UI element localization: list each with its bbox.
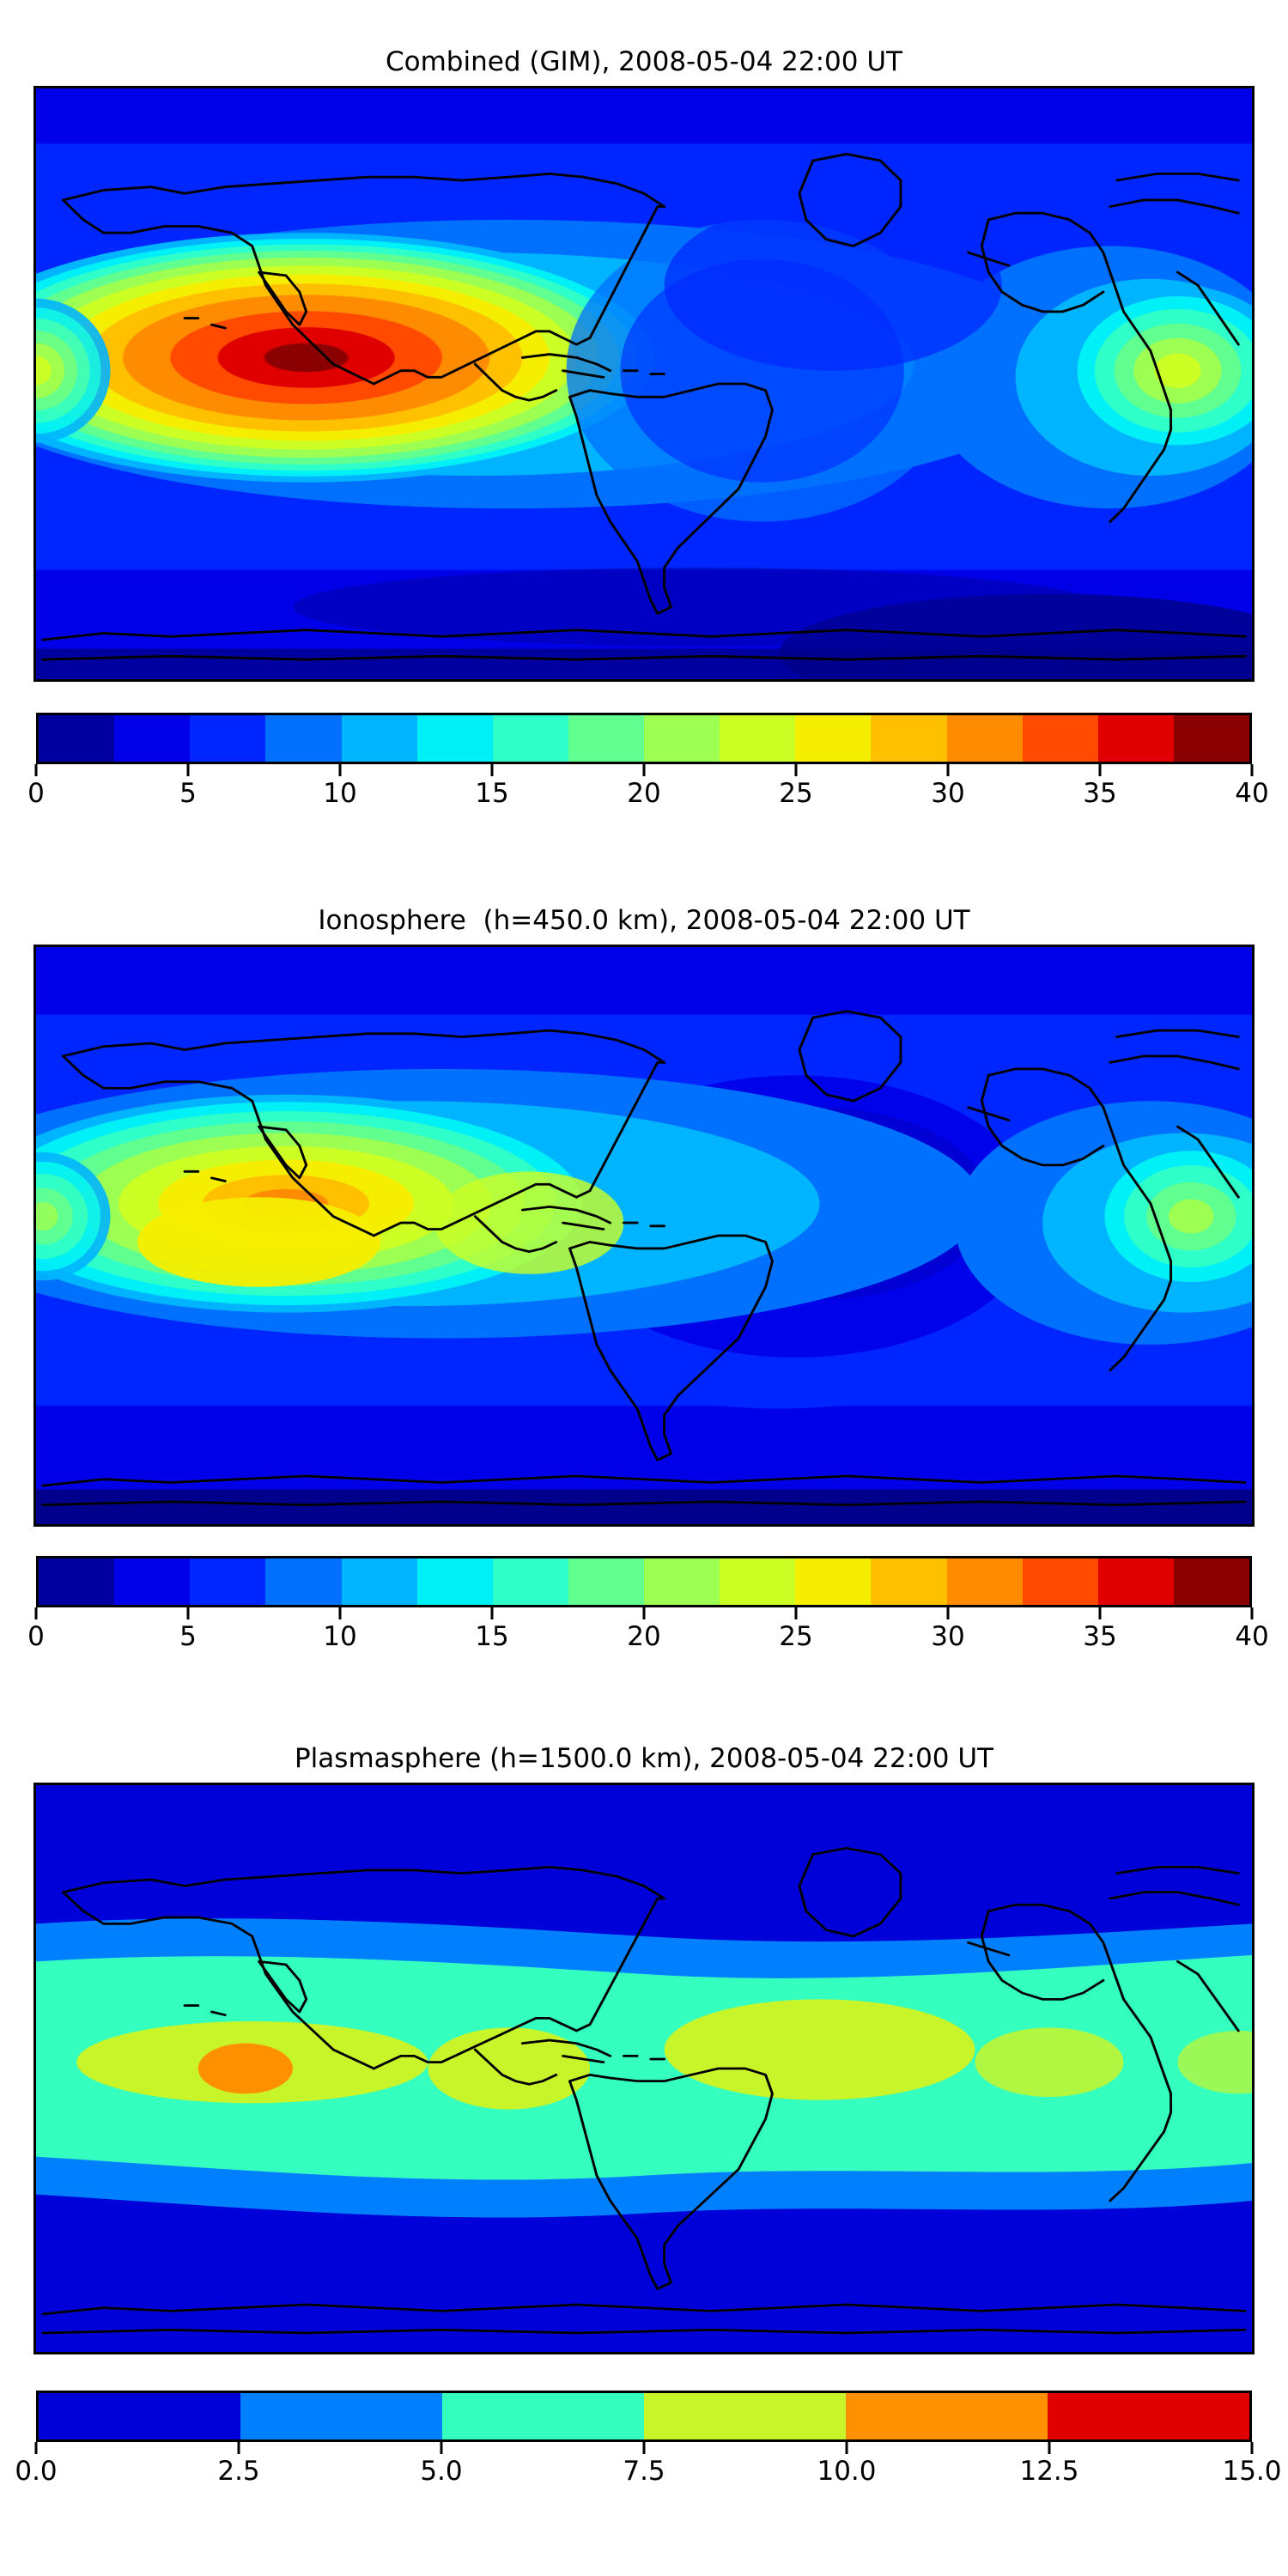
colorbar-band bbox=[720, 1558, 795, 1605]
colorbar-band bbox=[114, 715, 190, 762]
colorbar-band bbox=[1023, 1558, 1098, 1605]
colorbar-tick-label: 2.5 bbox=[217, 2456, 259, 2487]
panel-plasmasphere: Plasmasphere (h=1500.0 km), 2008-05-04 2… bbox=[0, 1741, 1288, 2494]
colorbar-band bbox=[644, 715, 720, 762]
colorbar-tick bbox=[35, 764, 38, 776]
colorbar-tick-label: 20 bbox=[627, 1621, 660, 1652]
colorbar-band bbox=[342, 715, 417, 762]
coastline-overlay-combined-gim bbox=[36, 88, 1252, 679]
colorbar-tick-label: 30 bbox=[931, 778, 964, 809]
colorbar-tick bbox=[643, 1607, 646, 1619]
map-inner-ionosphere bbox=[36, 947, 1252, 1524]
map-inner-plasmasphere bbox=[36, 1785, 1252, 2352]
colorbar-tick-label: 40 bbox=[1235, 778, 1268, 809]
colorbar-band bbox=[871, 1558, 946, 1605]
colorbar-tick-label: 15.0 bbox=[1222, 2456, 1281, 2487]
colorbar-plasmasphere: 0.0 2.5 5.0 7.5 10.0 12.5 15.0 bbox=[36, 2391, 1252, 2494]
panel-title-plasmasphere: Plasmasphere (h=1500.0 km), 2008-05-04 2… bbox=[0, 1741, 1288, 1776]
panel-title-combined-gim: Combined (GIM), 2008-05-04 22:00 UT bbox=[0, 45, 1288, 79]
colorbar-tick-label: 25 bbox=[779, 778, 812, 809]
colorbar-tick bbox=[1251, 2442, 1254, 2454]
colorbar-band bbox=[190, 1558, 265, 1605]
colorbar-tick bbox=[187, 764, 190, 776]
colorbar-tick-label: 5 bbox=[179, 1621, 197, 1652]
colorbar-band bbox=[644, 2393, 846, 2439]
panel-title-ionosphere: Ionosphere (h=450.0 km), 2008-05-04 22:0… bbox=[0, 903, 1288, 938]
map-inner-combined-gim bbox=[36, 88, 1252, 679]
colorbar-band bbox=[795, 1558, 871, 1605]
colorbar-tick bbox=[1048, 2442, 1050, 2454]
colorbar-band bbox=[114, 1558, 190, 1605]
colorbar-band bbox=[240, 2393, 442, 2439]
colorbar-tick-label: 10 bbox=[323, 1621, 356, 1652]
coastline-overlay-ionosphere bbox=[36, 947, 1252, 1524]
colorbar-band bbox=[644, 1558, 720, 1605]
colorbar-band bbox=[1098, 1558, 1174, 1605]
colorbar-gradient-combined-gim[interactable] bbox=[36, 713, 1252, 764]
colorbar-band bbox=[1023, 715, 1098, 762]
colorbar-tick-label: 35 bbox=[1083, 778, 1116, 809]
colorbar-tick-label: 0 bbox=[27, 1621, 45, 1652]
map-ionosphere[interactable] bbox=[33, 945, 1255, 1527]
colorbar-tick-label: 7.5 bbox=[623, 2456, 665, 2487]
colorbar-tick bbox=[187, 1607, 190, 1619]
colorbar-tick-label: 30 bbox=[931, 1621, 964, 1652]
colorbar-band bbox=[493, 715, 568, 762]
colorbar-band bbox=[417, 715, 493, 762]
panel-combined-gim: Combined (GIM), 2008-05-04 22:00 UT bbox=[0, 45, 1288, 816]
colorbar-band bbox=[795, 715, 871, 762]
colorbar-tick-label: 25 bbox=[779, 1621, 812, 1652]
colorbar-tick bbox=[947, 764, 950, 776]
colorbar-band bbox=[846, 2393, 1048, 2439]
colorbar-tick-label: 15 bbox=[475, 778, 508, 809]
colorbar-band bbox=[1174, 715, 1249, 762]
colorbar-tick-label: 5.0 bbox=[420, 2456, 462, 2487]
tec-map-figure: Combined (GIM), 2008-05-04 22:00 UT bbox=[0, 0, 1288, 2576]
colorbar-band bbox=[190, 715, 265, 762]
colorbar-tick bbox=[846, 2442, 848, 2454]
colorbar-band bbox=[265, 1558, 341, 1605]
map-combined-gim[interactable] bbox=[33, 86, 1255, 682]
colorbar-tick bbox=[947, 1607, 950, 1619]
colorbar-band bbox=[39, 1558, 114, 1605]
colorbar-tick bbox=[35, 2442, 38, 2454]
colorbar-tick bbox=[491, 764, 494, 776]
colorbar-band bbox=[1174, 1558, 1249, 1605]
colorbar-axis-combined-gim: 0 5 10 15 20 25 30 35 40 bbox=[36, 764, 1252, 816]
colorbar-tick-label: 10.0 bbox=[817, 2456, 876, 2487]
colorbar-gradient-ionosphere[interactable] bbox=[36, 1556, 1252, 1607]
colorbar-tick bbox=[795, 1607, 798, 1619]
colorbar-band bbox=[265, 715, 341, 762]
colorbar-tick bbox=[491, 1607, 494, 1619]
colorbar-band bbox=[720, 715, 795, 762]
coastline-overlay-plasmasphere bbox=[36, 1785, 1252, 2352]
colorbar-band bbox=[871, 715, 946, 762]
colorbar-tick bbox=[339, 1607, 342, 1619]
colorbar-tick bbox=[795, 764, 798, 776]
colorbar-tick bbox=[643, 764, 646, 776]
colorbar-band bbox=[417, 1558, 493, 1605]
map-plasmasphere[interactable] bbox=[33, 1783, 1255, 2354]
colorbar-band bbox=[1048, 2393, 1249, 2439]
colorbar-tick bbox=[1099, 764, 1102, 776]
colorbar-tick-label: 5 bbox=[179, 778, 197, 809]
colorbar-band bbox=[442, 2393, 644, 2439]
colorbar-tick-label: 0.0 bbox=[15, 2456, 57, 2487]
colorbar-band bbox=[493, 1558, 568, 1605]
colorbar-tick bbox=[238, 2442, 240, 2454]
colorbar-band bbox=[342, 1558, 417, 1605]
colorbar-tick-label: 35 bbox=[1083, 1621, 1116, 1652]
colorbar-tick-label: 20 bbox=[627, 778, 660, 809]
colorbar-tick bbox=[339, 764, 342, 776]
colorbar-tick bbox=[643, 2442, 646, 2454]
colorbar-gradient-plasmasphere[interactable] bbox=[36, 2391, 1252, 2442]
colorbar-axis-plasmasphere: 0.0 2.5 5.0 7.5 10.0 12.5 15.0 bbox=[36, 2442, 1252, 2494]
colorbar-band bbox=[947, 715, 1023, 762]
colorbar-tick bbox=[1251, 1607, 1254, 1619]
colorbar-axis-ionosphere: 0 5 10 15 20 25 30 35 40 bbox=[36, 1607, 1252, 1659]
colorbar-tick bbox=[1251, 764, 1254, 776]
colorbar-combined-gim: 0 5 10 15 20 25 30 35 40 bbox=[36, 713, 1252, 816]
colorbar-tick-label: 40 bbox=[1235, 1621, 1268, 1652]
colorbar-tick bbox=[35, 1607, 38, 1619]
colorbar-band bbox=[947, 1558, 1023, 1605]
colorbar-tick bbox=[1099, 1607, 1102, 1619]
colorbar-band bbox=[568, 715, 644, 762]
colorbar-band bbox=[39, 715, 114, 762]
colorbar-tick-label: 0 bbox=[27, 778, 45, 809]
colorbar-tick-label: 12.5 bbox=[1019, 2456, 1078, 2487]
colorbar-band bbox=[1098, 715, 1174, 762]
panel-ionosphere: Ionosphere (h=450.0 km), 2008-05-04 22:0… bbox=[0, 903, 1288, 1659]
colorbar-ionosphere: 0 5 10 15 20 25 30 35 40 bbox=[36, 1556, 1252, 1659]
colorbar-tick bbox=[440, 2442, 442, 2454]
colorbar-band bbox=[39, 2393, 240, 2439]
colorbar-tick-label: 10 bbox=[323, 778, 356, 809]
colorbar-tick-label: 15 bbox=[475, 1621, 508, 1652]
colorbar-band bbox=[568, 1558, 644, 1605]
